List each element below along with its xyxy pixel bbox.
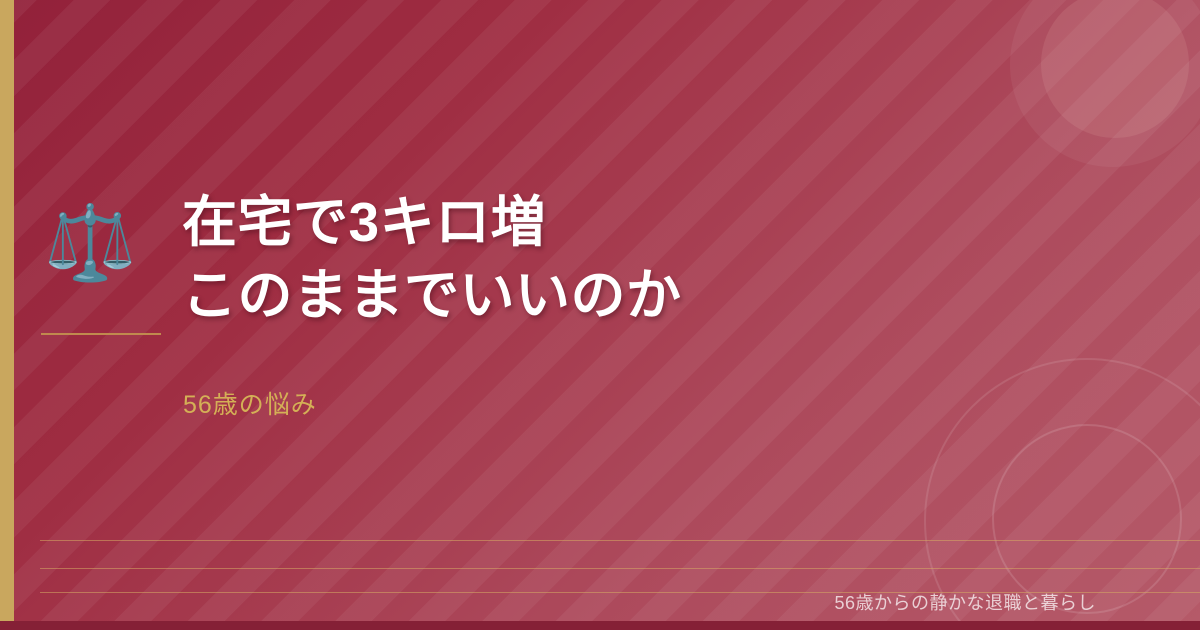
balance-scale-icon: ⚖️ [44,193,136,293]
card-content: ⚖️ 在宅で3キロ増 このままでいいのか 56歳の悩み 56歳からの静かな退職と… [0,0,1200,630]
site-name-footer: 56歳からの静かな退職と暮らし [834,589,1096,615]
page-title: 在宅で3キロ増 このままでいいのか [182,186,1142,332]
page-subtitle: 56歳の悩み [183,385,317,421]
social-card: ⚖️ 在宅で3キロ増 このままでいいのか 56歳の悩み 56歳からの静かな退職と… [0,0,1200,630]
gold-accent-divider [41,333,161,335]
bottom-accent-bar [0,621,1200,630]
